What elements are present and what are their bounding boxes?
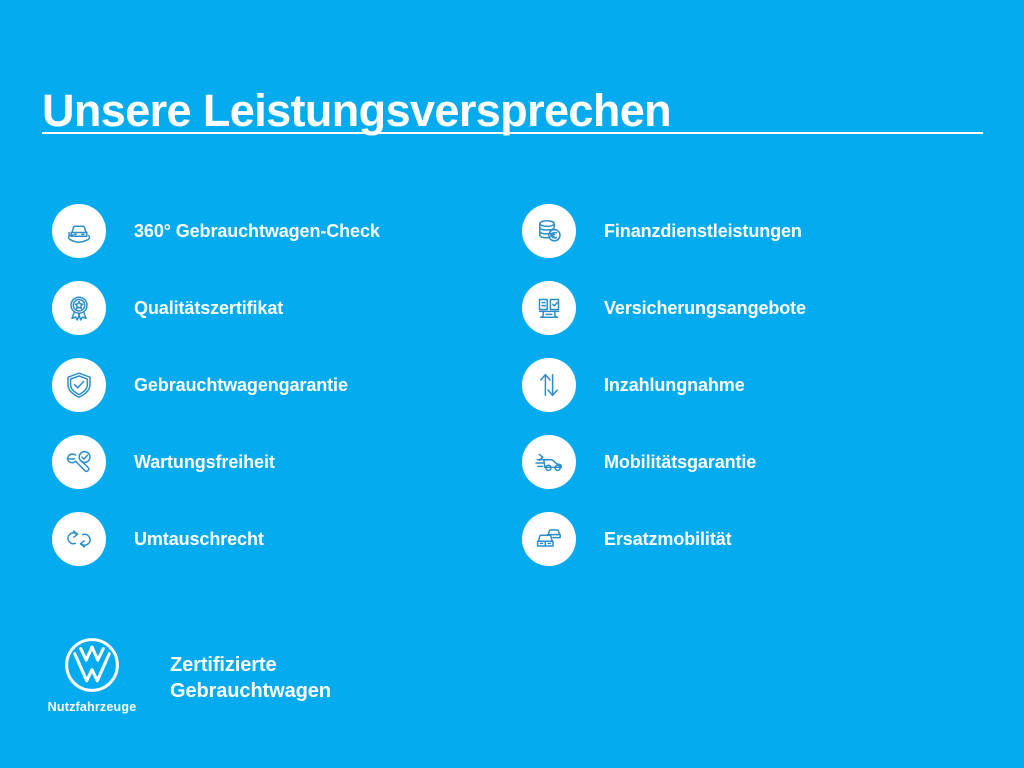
slide-canvas: Unsere Leistungsversprechen 360° Gebrauc… [0,0,1024,768]
exchange-arrows-icon [52,512,106,566]
promise-item: Versicherungsangebote [522,281,972,335]
arrows-up-down-icon [522,358,576,412]
promise-item: Wartungsfreiheit [52,435,522,489]
page-title: Unsere Leistungsversprechen [42,84,671,138]
promise-item: Finanzdienstleistungen [522,204,972,258]
coins-euro-icon [522,204,576,258]
promise-item: 360° Gebrauchtwagen-Check [52,204,522,258]
promise-list: 360° Gebrauchtwagen-Check Finanzdienstle… [52,204,972,589]
promise-label: Umtauschrecht [134,529,264,550]
contract-check-icon [522,281,576,335]
promise-item: Inzahlungnahme [522,358,972,412]
promise-label: Qualitätszertifikat [134,298,283,319]
promise-label: Ersatzmobilität [604,529,732,550]
brand-claim: Zertifizierte Gebrauchtwagen [170,652,331,704]
promise-label: Versicherungsangebote [604,298,806,319]
promise-item: Gebrauchtwagengarantie [52,358,522,412]
car-speed-icon [522,435,576,489]
car-360-check-icon [52,204,106,258]
brand-sublabel: Nutzfahrzeuge [48,700,137,714]
promise-item: Ersatzmobilität [522,512,972,566]
title-divider [42,132,983,134]
brand-mark: Nutzfahrzeuge [42,636,142,714]
shield-check-icon [52,358,106,412]
brand-lockup: Nutzfahrzeuge Zertifizierte Gebrauchtwag… [42,636,331,714]
promise-label: 360° Gebrauchtwagen-Check [134,221,380,242]
promise-label: Inzahlungnahme [604,375,745,396]
promise-label: Mobilitätsgarantie [604,452,756,473]
promise-label: Finanzdienstleistungen [604,221,802,242]
vw-logo [63,636,121,694]
promise-item: Qualitätszertifikat [52,281,522,335]
promise-item: Mobilitätsgarantie [522,435,972,489]
brand-claim-line-1: Zertifizierte [170,652,331,678]
two-cars-icon [522,512,576,566]
award-rosette-icon [52,281,106,335]
promise-label: Wartungsfreiheit [134,452,275,473]
promise-item: Umtauschrecht [52,512,522,566]
brand-claim-line-2: Gebrauchtwagen [170,678,331,704]
promise-label: Gebrauchtwagengarantie [134,375,348,396]
wrench-check-icon [52,435,106,489]
